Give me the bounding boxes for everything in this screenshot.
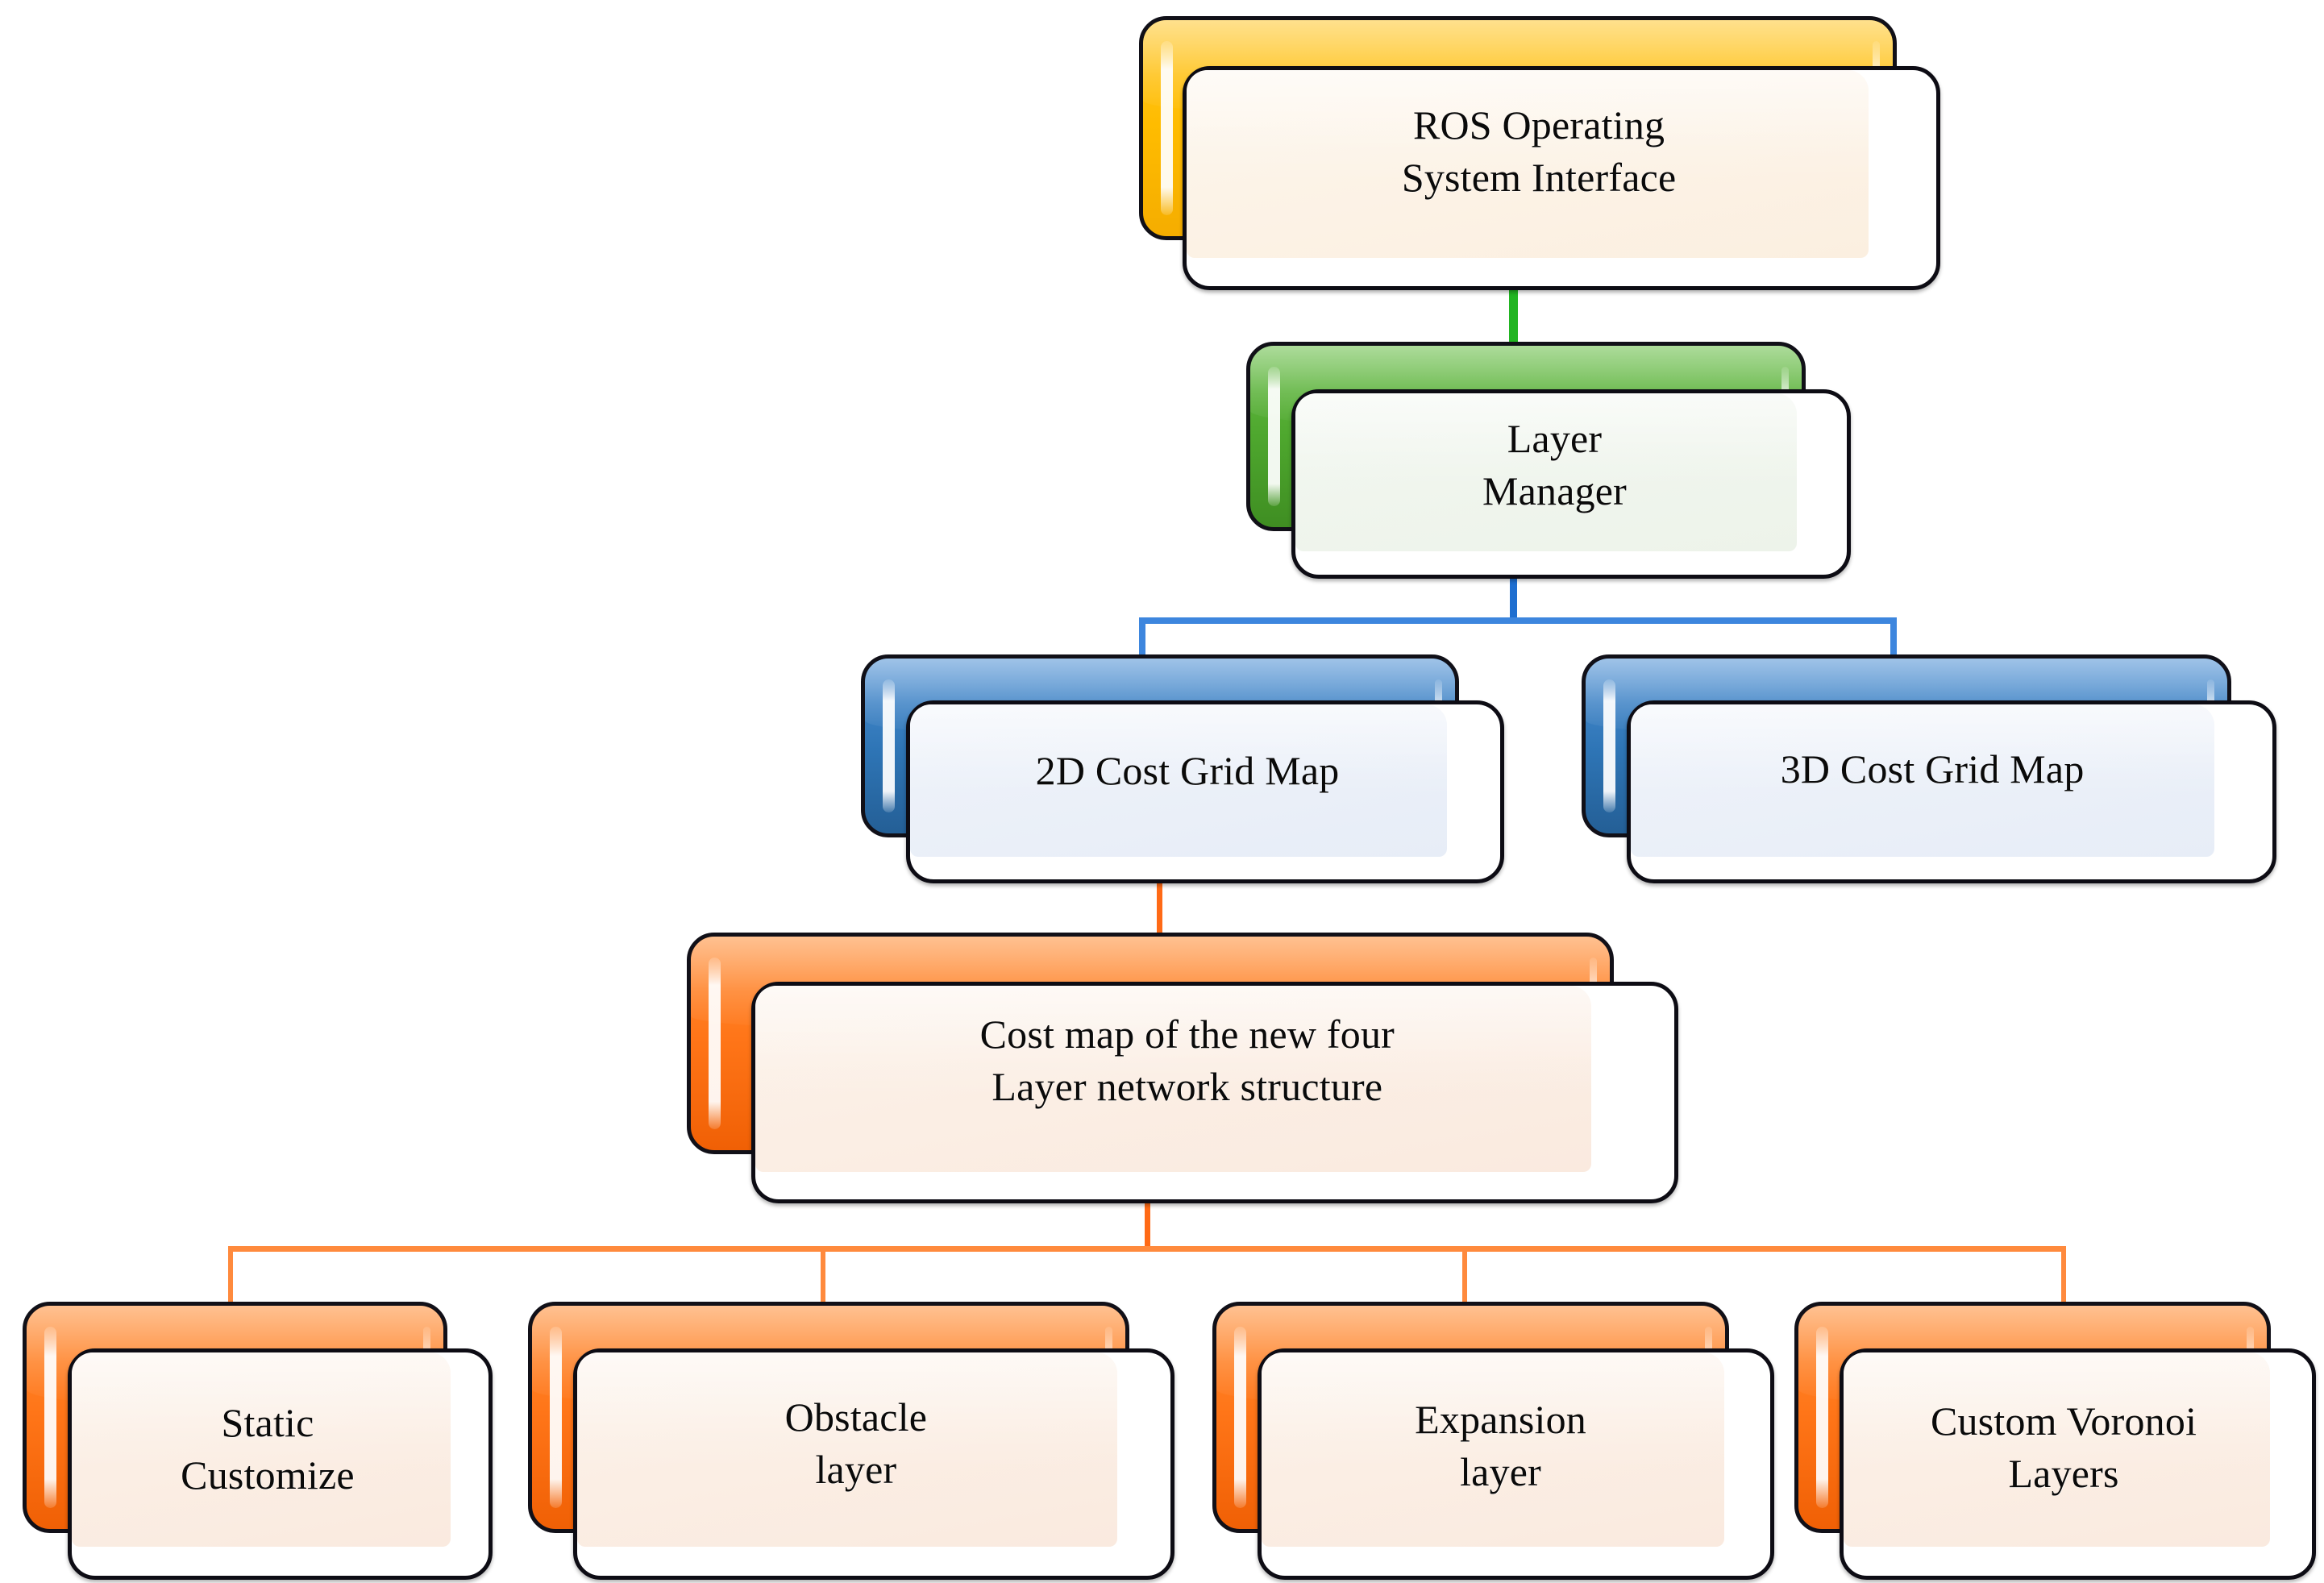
node-layer-manager[interactable]: Layer Manager: [1246, 342, 1851, 579]
node-obstacle-front-card[interactable]: Obstacle layer: [573, 1348, 1174, 1580]
node-label: Custom Voronoi Layers: [1844, 1352, 2312, 1576]
edge-costmap-bus: [228, 1246, 2066, 1252]
gloss-edge-left: [44, 1327, 56, 1508]
node-costmap-four-layer[interactable]: Cost map of the new four Layer network s…: [687, 933, 1678, 1203]
node-grid2d-front-card[interactable]: 2D Cost Grid Map: [906, 700, 1504, 883]
gloss-edge-left: [1816, 1327, 1828, 1508]
node-label: 3D Cost Grid Map: [1631, 704, 2272, 879]
edge-costmap-stem: [1145, 1203, 1150, 1250]
node-expansion-layer[interactable]: Expansion layer: [1212, 1302, 1774, 1580]
gloss-edge-left: [550, 1327, 562, 1508]
node-label: Static Customize: [72, 1352, 488, 1576]
diagram-canvas: ROS Operating System Interface Layer Man…: [0, 0, 2324, 1583]
edge-costmap-drop-voronoi: [2061, 1246, 2066, 1304]
node-label: Cost map of the new four Layer network s…: [755, 986, 1674, 1199]
edge-costmap-drop-static: [228, 1246, 233, 1304]
node-ros-operating-system-interface[interactable]: ROS Operating System Interface: [1139, 16, 1940, 290]
node-label: ROS Operating System Interface: [1187, 70, 1936, 286]
edge-costmap-drop-expansion: [1462, 1246, 1467, 1304]
gloss-edge-left: [1161, 41, 1173, 215]
node-label: Expansion layer: [1262, 1352, 1770, 1576]
edge-costmap-drop-obstacle: [821, 1246, 825, 1304]
gloss-edge-left: [709, 958, 721, 1129]
node-costmap-front-card[interactable]: Cost map of the new four Layer network s…: [751, 982, 1678, 1203]
node-grid3d-front-card[interactable]: 3D Cost Grid Map: [1627, 700, 2276, 883]
gloss-edge-left: [1268, 367, 1280, 506]
node-label: Layer Manager: [1295, 393, 1847, 575]
node-voronoi-front-card[interactable]: Custom Voronoi Layers: [1840, 1348, 2316, 1580]
gloss-edge-left: [1603, 679, 1615, 812]
node-obstacle-layer[interactable]: Obstacle layer: [528, 1302, 1174, 1580]
node-layermanager-front-card[interactable]: Layer Manager: [1291, 389, 1851, 579]
edge-ros-to-layermanager: [1509, 289, 1518, 345]
node-static-customize[interactable]: Static Customize: [23, 1302, 493, 1580]
gloss-edge-left: [883, 679, 895, 812]
gloss-edge-left: [1234, 1327, 1246, 1508]
node-label: 2D Cost Grid Map: [910, 704, 1500, 879]
node-static-front-card[interactable]: Static Customize: [68, 1348, 493, 1580]
edge-layermanager-stem: [1510, 576, 1517, 621]
node-ros-front-card[interactable]: ROS Operating System Interface: [1183, 66, 1940, 290]
node-custom-voronoi-layers[interactable]: Custom Voronoi Layers: [1794, 1302, 2316, 1580]
node-label: Obstacle layer: [577, 1352, 1170, 1576]
node-3d-cost-grid-map[interactable]: 3D Cost Grid Map: [1582, 654, 2276, 883]
node-expansion-front-card[interactable]: Expansion layer: [1258, 1348, 1774, 1580]
node-2d-cost-grid-map[interactable]: 2D Cost Grid Map: [861, 654, 1504, 883]
edge-layermanager-bus: [1139, 617, 1897, 624]
